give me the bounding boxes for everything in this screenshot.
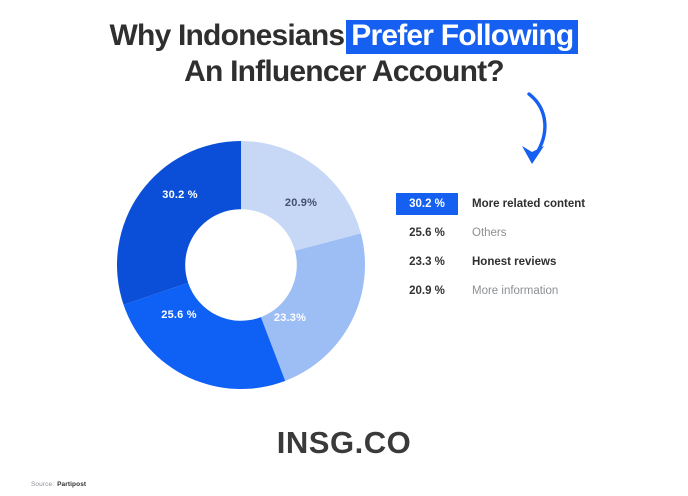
source-name: Partipost — [57, 481, 86, 488]
title-line-2: An Influencer Account? — [0, 54, 688, 89]
legend-label: More related content — [472, 198, 585, 210]
title-line-1: Why IndonesiansPrefer Following — [0, 18, 688, 54]
donut-chart-svg — [116, 140, 366, 390]
donut-slice[interactable] — [117, 141, 241, 305]
legend-row[interactable]: 30.2 % More related content — [396, 193, 646, 215]
legend-row[interactable]: 20.9 % More information — [396, 280, 646, 302]
legend-percent: 23.3 % — [396, 251, 458, 273]
legend-percent: 30.2 % — [396, 193, 458, 215]
slice-label-more-information: 20.9% — [285, 197, 317, 209]
legend-label: More information — [472, 285, 558, 297]
source-prefix: Source: — [31, 481, 54, 488]
donut-slice[interactable] — [124, 283, 286, 389]
legend-row[interactable]: 23.3 % Honest reviews — [396, 251, 646, 273]
curved-arrow-icon — [492, 88, 588, 176]
slice-label-others: 25.6 % — [161, 309, 196, 321]
page-title: Why IndonesiansPrefer Following An Influ… — [0, 18, 688, 89]
legend-row[interactable]: 25.6 % Others — [396, 222, 646, 244]
legend-percent: 25.6 % — [396, 222, 458, 244]
slice-label-honest-reviews: 23.3% — [274, 312, 306, 324]
title-plain-text: Why Indonesians — [110, 19, 345, 52]
chart-legend: 30.2 % More related content 25.6 % Other… — [396, 193, 646, 309]
donut-slice[interactable] — [241, 141, 361, 251]
legend-label: Others — [472, 227, 507, 239]
legend-percent: 20.9 % — [396, 280, 458, 302]
source-credit: Source:Partipost — [31, 481, 86, 488]
title-highlight-text: Prefer Following — [346, 20, 578, 54]
slice-label-more-related-content: 30.2 % — [162, 189, 197, 201]
donut-slices — [117, 141, 365, 389]
brand-wordmark: INSG.CO — [0, 425, 688, 461]
legend-label: Honest reviews — [472, 256, 556, 268]
donut-chart: 20.9% 23.3% 25.6 % 30.2 % — [116, 140, 366, 390]
